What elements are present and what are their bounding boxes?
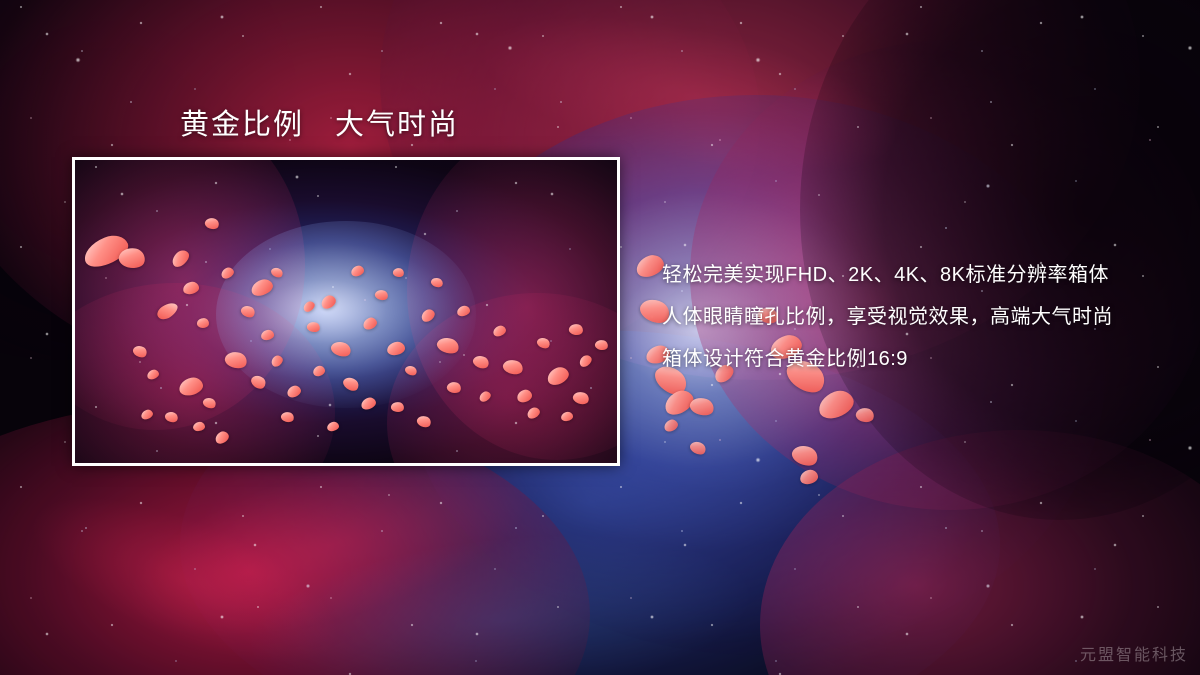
frame-image — [75, 160, 617, 463]
page-title: 黄金比例 大气时尚 — [180, 101, 459, 143]
watermark: 元盟智能科技 — [1080, 641, 1188, 665]
body-line-3: 箱体设计符合黄金比例16:9 — [662, 342, 908, 371]
body-line-1: 轻松完美实现FHD、2K、4K、8K标准分辨率箱体 — [662, 258, 1109, 287]
nebula-photo-frame — [72, 157, 620, 466]
body-line-2: 人体眼睛瞳孔比例，享受视觉效果，高端大气时尚 — [662, 300, 1113, 329]
slide-canvas: 黄金比例 大气时尚 轻松完美实现FHD、2K、4K、8K标准分辨率箱体人体眼睛瞳… — [0, 0, 1200, 675]
